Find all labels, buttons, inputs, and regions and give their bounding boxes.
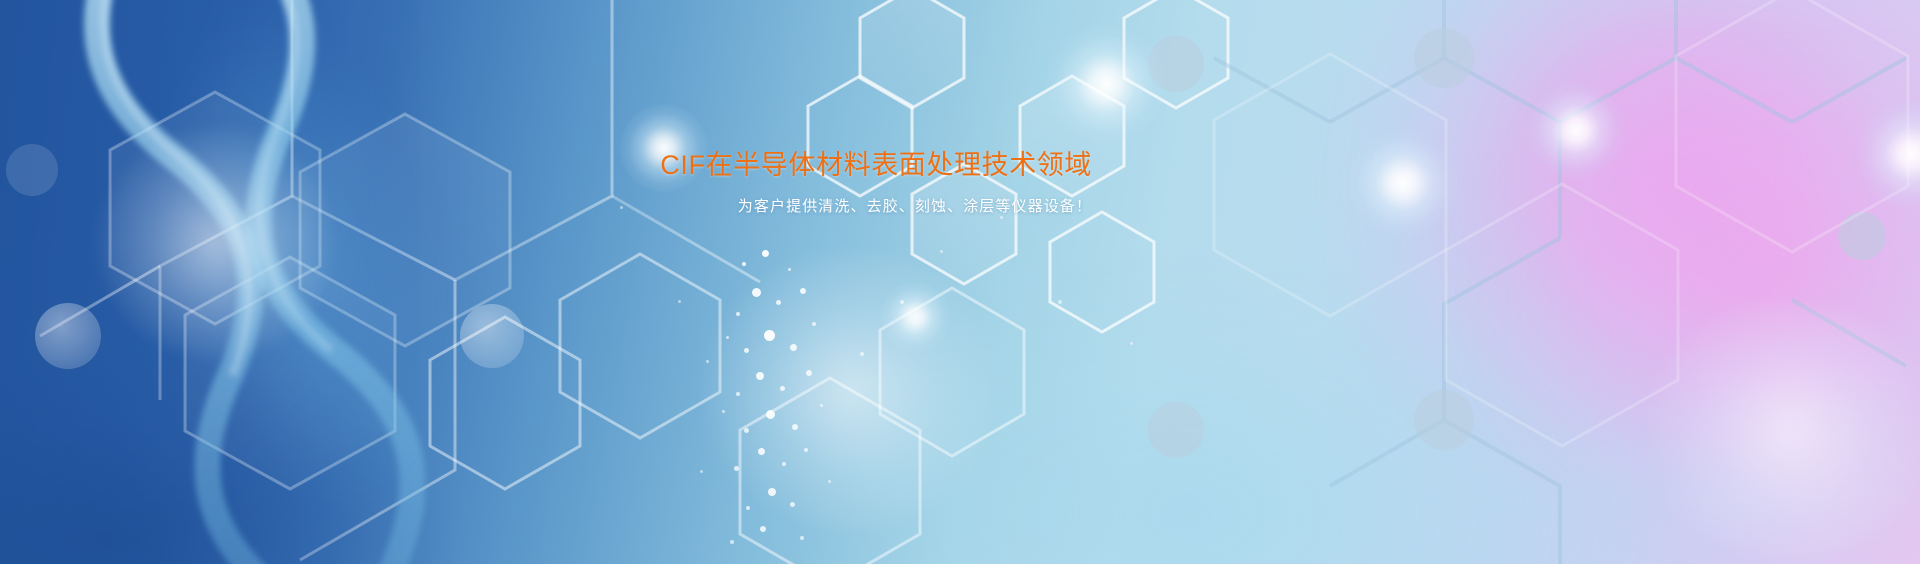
banner-headline: CIF在半导体材料表面处理技术领域 [0,148,1092,182]
hero-banner: CIF在半导体材料表面处理技术领域 为客户提供清洗、去胶、刻蚀、涂层等仪器设备！ [0,0,1920,564]
banner-subheadline: 为客户提供清洗、去胶、刻蚀、涂层等仪器设备！ [0,196,1092,218]
banner-copy: CIF在半导体材料表面处理技术领域 为客户提供清洗、去胶、刻蚀、涂层等仪器设备！ [0,148,1092,218]
